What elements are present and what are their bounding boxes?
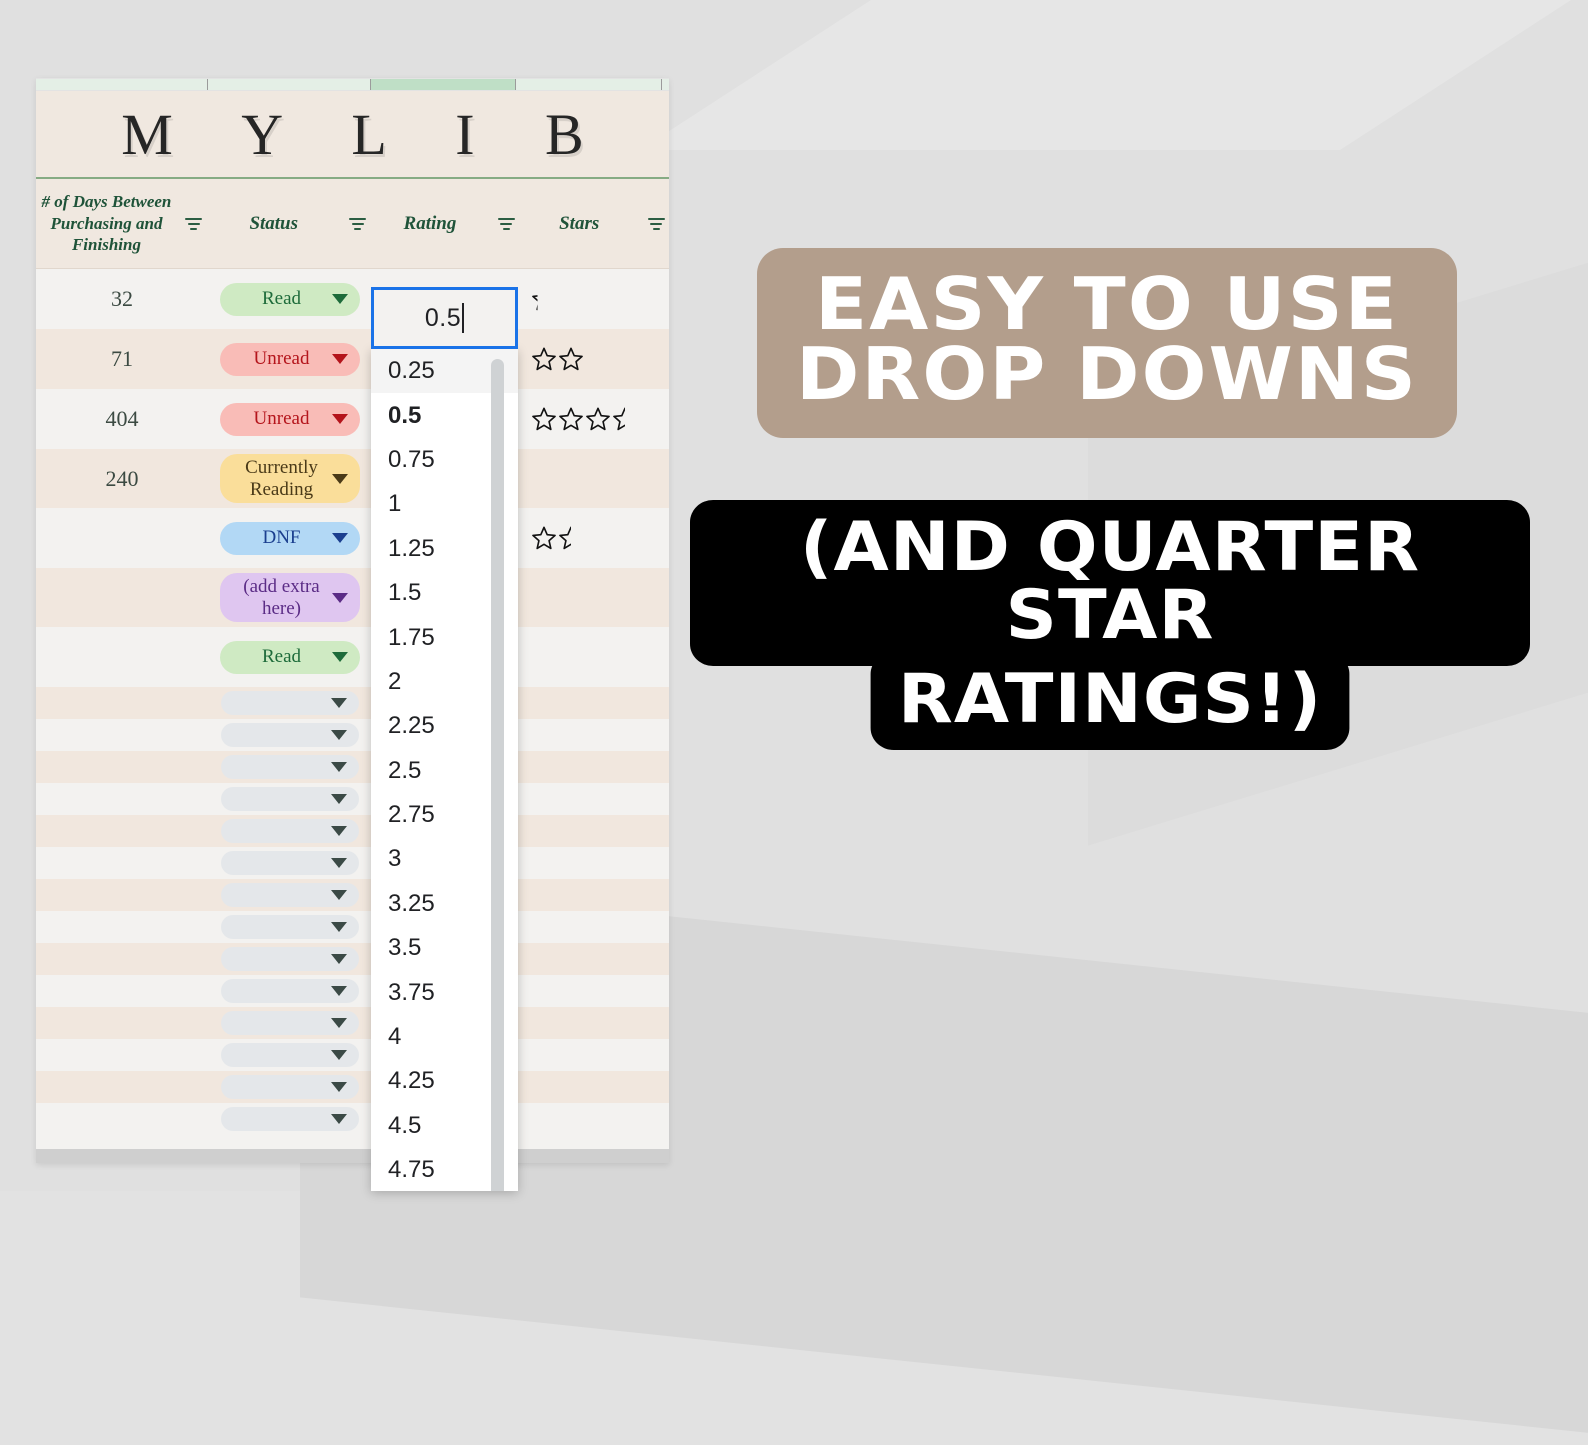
status-label: DNF (262, 527, 300, 548)
chevron-down-icon (332, 474, 348, 484)
cell-days[interactable] (36, 687, 208, 719)
table-row[interactable]: 71Unread (36, 329, 669, 389)
filter-icon[interactable] (181, 213, 207, 235)
promo-1-line-2: DROP DOWNS (768, 340, 1446, 410)
cell-status[interactable] (208, 751, 371, 783)
table-row[interactable]: Read (36, 627, 669, 687)
status-dropdown-empty[interactable] (221, 755, 359, 779)
rating-dropdown-menu[interactable]: 0.250.50.7511.251.51.7522.252.52.7533.25… (371, 349, 518, 1191)
promo-banner-quarter-stars: (AND QUARTER STAR RATINGS!) (710, 500, 1510, 750)
cell-days[interactable] (36, 751, 208, 783)
star-rating-display (531, 525, 584, 551)
star-rating-display (531, 346, 584, 372)
cell-status[interactable]: Read (208, 269, 371, 329)
cell-stars[interactable] (516, 879, 662, 911)
status-dropdown-empty[interactable] (221, 723, 359, 747)
cell-days[interactable] (36, 975, 208, 1007)
chevron-down-icon (331, 1018, 347, 1028)
status-dropdown-empty[interactable] (221, 1107, 359, 1131)
cell-status[interactable] (208, 975, 371, 1007)
chevron-down-icon (331, 1114, 347, 1124)
status-dropdown-empty[interactable] (221, 787, 359, 811)
chevron-down-icon (331, 730, 347, 740)
cell-days[interactable] (36, 911, 208, 943)
cell-status[interactable] (208, 1103, 371, 1135)
table-row[interactable]: (add extra here) (36, 568, 669, 627)
chevron-down-icon (331, 922, 347, 932)
cell-stars[interactable] (516, 1103, 662, 1135)
cell-stars[interactable] (516, 911, 662, 943)
status-dropdown-dnf[interactable]: DNF (220, 522, 360, 555)
chevron-down-icon (331, 858, 347, 868)
cell-stars[interactable] (516, 1007, 662, 1039)
rating-input-value: 0.5 (425, 304, 461, 333)
cell-stars[interactable] (516, 568, 662, 627)
cell-stars[interactable] (516, 389, 662, 449)
rating-cell-editor[interactable]: 0.5 (371, 287, 518, 349)
column-header-extra[interactable] (662, 79, 669, 90)
status-dropdown-empty[interactable] (221, 1011, 359, 1035)
table-body: 32Read71Unread404Unread240Currently Read… (36, 269, 669, 1135)
cell-days[interactable]: 240 (36, 449, 208, 508)
cell-stars[interactable] (516, 783, 662, 815)
status-dropdown-empty[interactable] (221, 819, 359, 843)
cell-stars[interactable] (516, 1039, 662, 1071)
cell-status[interactable] (208, 687, 371, 719)
table-row[interactable] (36, 815, 669, 847)
chevron-down-icon (331, 1082, 347, 1092)
chevron-down-icon (332, 294, 348, 304)
cell-days[interactable] (36, 1071, 208, 1103)
table-row[interactable] (36, 847, 669, 879)
status-dropdown-unread[interactable]: Unread (220, 343, 360, 376)
table-row[interactable]: 32Read (36, 269, 669, 329)
dropdown-scrollbar[interactable] (491, 359, 504, 1191)
cell-stars[interactable] (516, 1071, 662, 1103)
cell-days[interactable] (36, 847, 208, 879)
status-dropdown-current[interactable]: Currently Reading (220, 454, 360, 503)
promo-1-line-1: EASY TO USE (768, 270, 1446, 340)
cell-days[interactable] (36, 719, 208, 751)
cell-stars[interactable] (516, 975, 662, 1007)
cell-status[interactable] (208, 911, 371, 943)
table-row[interactable] (36, 783, 669, 815)
days-value: 71 (111, 346, 133, 372)
status-label: Currently Reading (230, 457, 334, 500)
table-row[interactable] (36, 1039, 669, 1071)
filter-icon[interactable] (493, 213, 519, 235)
chevron-down-icon (331, 890, 347, 900)
status-label: Read (262, 288, 301, 309)
cell-days[interactable] (36, 1007, 208, 1039)
table-row[interactable]: 404Unread (36, 389, 669, 449)
header-label-rating: Rating (404, 212, 457, 236)
table-row[interactable]: 240Currently Reading (36, 449, 669, 508)
promo-2-line-2: RATINGS!) (871, 652, 1350, 750)
chevron-down-icon (331, 762, 347, 772)
status-dropdown-empty[interactable] (221, 691, 359, 715)
table-row[interactable] (36, 751, 669, 783)
chevron-down-icon (332, 354, 348, 364)
cell-days[interactable] (36, 627, 208, 687)
cell-days[interactable] (36, 943, 208, 975)
status-dropdown-empty[interactable] (221, 851, 359, 875)
cell-days[interactable] (36, 1103, 208, 1135)
chevron-down-icon (332, 414, 348, 424)
chevron-down-icon (331, 698, 347, 708)
table-row[interactable] (36, 1103, 669, 1135)
status-dropdown-read[interactable]: Read (220, 641, 360, 674)
cell-days[interactable] (36, 815, 208, 847)
table-row[interactable] (36, 719, 669, 751)
table-row[interactable] (36, 879, 669, 911)
cell-stars[interactable] (516, 719, 662, 751)
status-dropdown-empty[interactable] (221, 979, 359, 1003)
chevron-down-icon (332, 593, 348, 603)
header-cell-days: # of Days Between Purchasing and Finishi… (36, 179, 177, 268)
cell-stars[interactable] (516, 943, 662, 975)
cell-days[interactable] (36, 879, 208, 911)
chevron-down-icon (331, 954, 347, 964)
chevron-down-icon (331, 826, 347, 836)
cell-days[interactable] (36, 783, 208, 815)
column-header-status[interactable] (208, 79, 371, 90)
cell-status[interactable]: Unread (208, 329, 371, 389)
star-rating-display (531, 286, 557, 312)
cell-stars[interactable] (516, 815, 662, 847)
cell-days[interactable] (36, 508, 208, 568)
table-row[interactable] (36, 1071, 669, 1103)
header-label-stars: Stars (559, 212, 599, 236)
column-header-stars[interactable] (516, 79, 662, 90)
days-value: 404 (106, 406, 139, 432)
table-row[interactable] (36, 687, 669, 719)
status-label: Read (262, 646, 301, 667)
table-row[interactable] (36, 943, 669, 975)
cell-stars[interactable] (516, 329, 662, 389)
cell-status[interactable]: DNF (208, 508, 371, 568)
page-title: M Y L I B (93, 101, 611, 168)
column-header-days[interactable] (36, 79, 208, 90)
table-row[interactable] (36, 1007, 669, 1039)
chevron-down-icon (332, 652, 348, 662)
promo-2-line-1: (AND QUARTER STAR (690, 500, 1530, 666)
promo-banner-easy-dropdowns: EASY TO USE DROP DOWNS (757, 248, 1457, 438)
cell-days[interactable]: 32 (36, 269, 208, 329)
table-row[interactable] (36, 975, 669, 1007)
cell-status[interactable] (208, 1071, 371, 1103)
filter-icon[interactable] (345, 213, 371, 235)
cell-stars[interactable] (516, 847, 662, 879)
header-cell-rating: Rating (371, 179, 490, 268)
filter-icon[interactable] (643, 213, 669, 235)
header-cell-status: Status (207, 179, 341, 268)
cell-days[interactable]: 404 (36, 389, 208, 449)
sheet-bottom-bar (36, 1149, 669, 1163)
cell-status[interactable]: Unread (208, 389, 371, 449)
header-label-days: # of Days Between Purchasing and Finishi… (36, 191, 177, 255)
days-value: 240 (106, 466, 139, 492)
cell-status[interactable] (208, 1007, 371, 1039)
cell-status[interactable] (208, 783, 371, 815)
column-header-rating-selected[interactable] (371, 79, 516, 90)
status-dropdown-empty[interactable] (221, 947, 359, 971)
header-label-status: Status (249, 212, 298, 236)
spreadsheet-panel: M Y L I B # of Days Between Purchasing a… (36, 78, 669, 1163)
cell-stars[interactable] (516, 751, 662, 783)
status-dropdown-empty[interactable] (221, 1075, 359, 1099)
cell-days[interactable] (36, 568, 208, 627)
chevron-down-icon (331, 1050, 347, 1060)
cell-stars[interactable] (516, 449, 662, 508)
column-letter-strip[interactable] (36, 78, 669, 91)
cell-status[interactable] (208, 719, 371, 751)
status-dropdown-extra[interactable]: (add extra here) (220, 573, 360, 622)
cell-status[interactable]: (add extra here) (208, 568, 371, 627)
cell-days[interactable]: 71 (36, 329, 208, 389)
chevron-down-icon (331, 986, 347, 996)
cell-status[interactable] (208, 1039, 371, 1071)
cell-stars[interactable] (516, 627, 662, 687)
days-value: 32 (111, 286, 133, 312)
header-cell-stars: Stars (519, 179, 639, 268)
chevron-down-icon (331, 794, 347, 804)
cell-days[interactable] (36, 1039, 208, 1071)
cell-stars[interactable] (516, 508, 662, 568)
sheet-title-banner: M Y L I B (36, 91, 669, 179)
chevron-down-icon (332, 533, 348, 543)
cell-status[interactable] (208, 879, 371, 911)
cell-status[interactable]: Read (208, 627, 371, 687)
status-dropdown-empty[interactable] (221, 883, 359, 907)
status-label: Unread (254, 408, 310, 429)
status-dropdown-empty[interactable] (221, 915, 359, 939)
cell-status[interactable]: Currently Reading (208, 449, 371, 508)
table-row[interactable]: DNF (36, 508, 669, 568)
cell-status[interactable] (208, 815, 371, 847)
cell-stars[interactable] (516, 687, 662, 719)
status-label: Unread (254, 348, 310, 369)
star-rating-display (531, 406, 638, 432)
text-cursor (462, 303, 464, 333)
status-label: (add extra here) (230, 576, 334, 619)
status-dropdown-read[interactable]: Read (220, 283, 360, 316)
cell-status[interactable] (208, 847, 371, 879)
table-row[interactable] (36, 911, 669, 943)
cell-stars[interactable] (516, 269, 662, 329)
status-dropdown-unread[interactable]: Unread (220, 403, 360, 436)
cell-status[interactable] (208, 943, 371, 975)
table-header-row: # of Days Between Purchasing and Finishi… (36, 179, 669, 269)
status-dropdown-empty[interactable] (221, 1043, 359, 1067)
